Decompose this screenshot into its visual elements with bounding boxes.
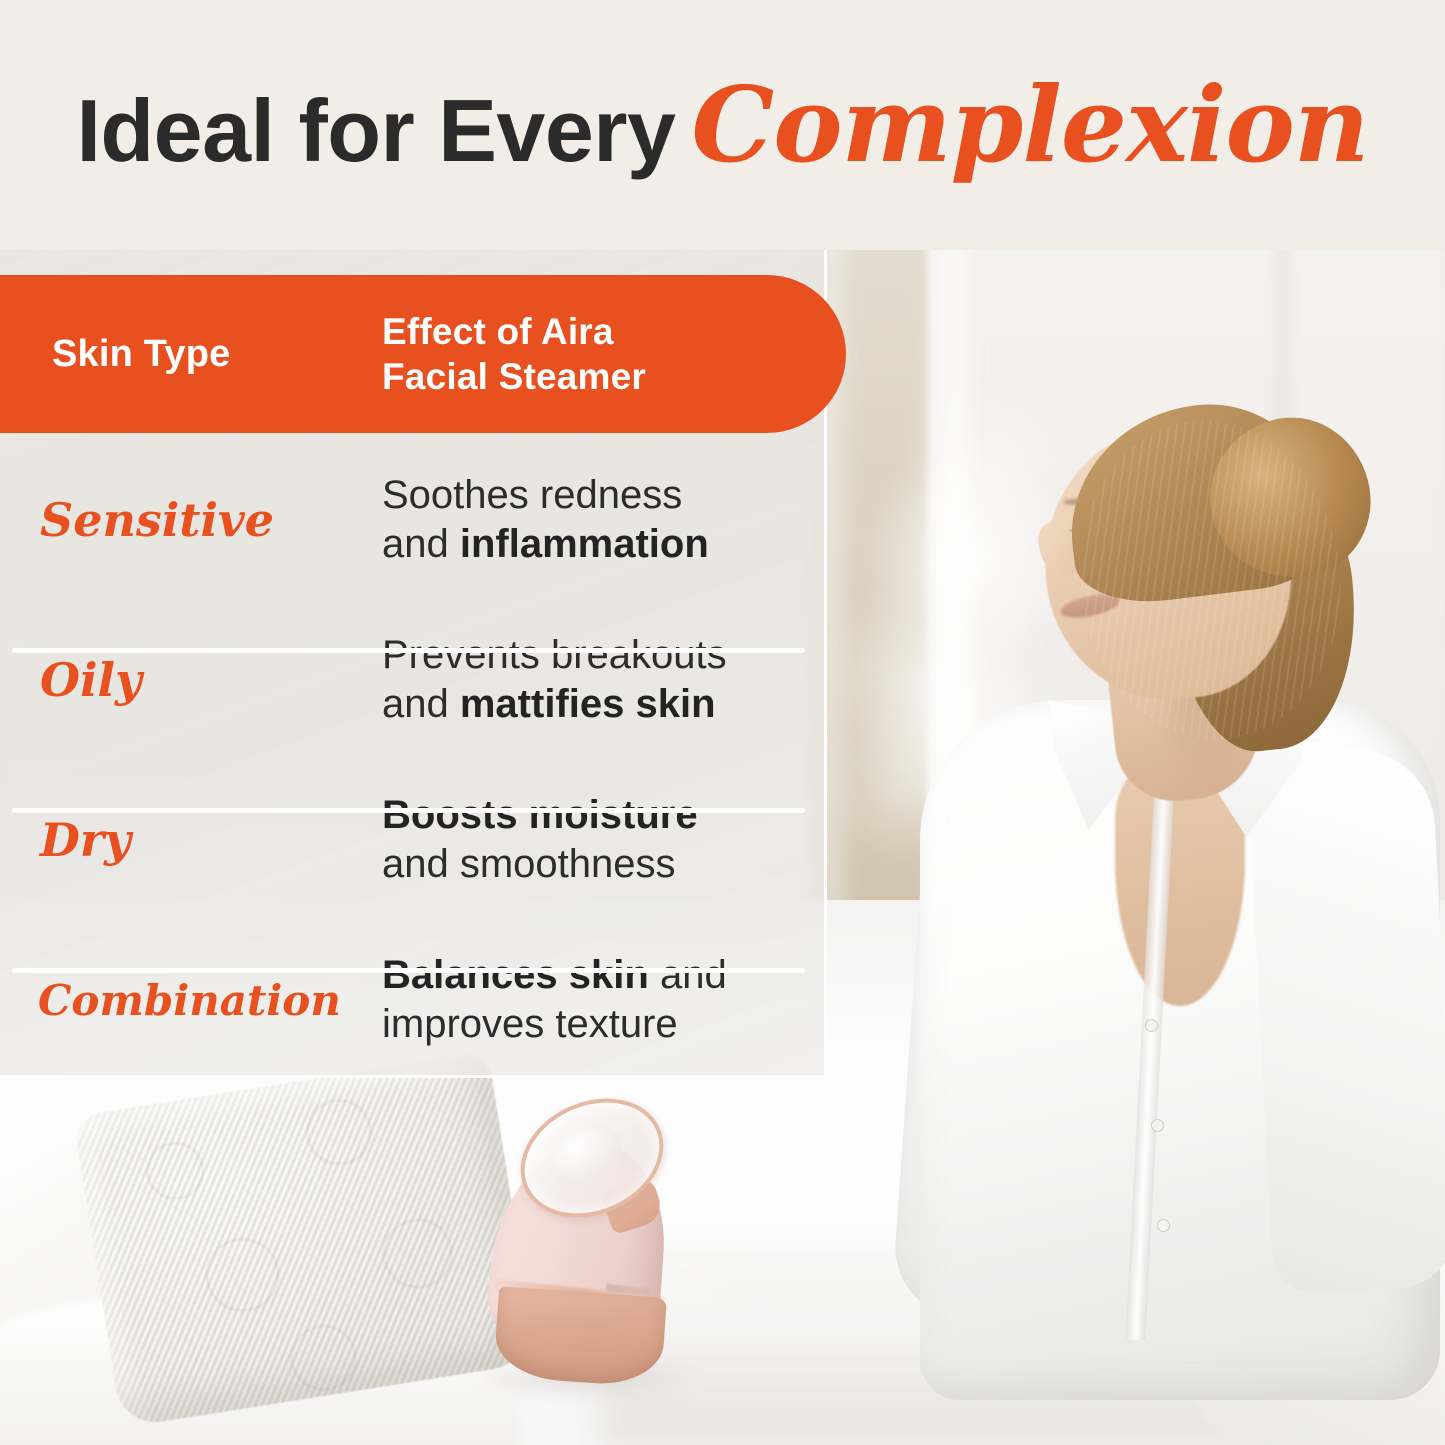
header-skin-type: Skin Type	[52, 333, 382, 376]
knit-texture	[73, 1051, 537, 1428]
title-band: Ideal for EveryComplexion	[0, 0, 1445, 250]
woman-figure	[900, 400, 1445, 1410]
shirt-sleeve-right	[1246, 746, 1445, 1295]
shirt-button	[1152, 1120, 1163, 1131]
infographic-canvas: Ideal for EveryComplexion Skin Type Effe…	[0, 0, 1445, 1445]
effect-line1-bold: Boosts moisture	[382, 793, 698, 837]
facial-steamer-product	[478, 1096, 678, 1381]
effect-text: Prevents breakouts and mattifies skin	[382, 631, 827, 729]
effect-line1: Soothes redness	[382, 473, 682, 517]
effect-line1-bold: Balances skin	[382, 953, 649, 997]
shirt-button	[1158, 1220, 1169, 1231]
skin-type-label: Sensitive	[0, 493, 382, 547]
effect-line1: Prevents breakouts	[382, 633, 727, 677]
skin-type-label: Combination	[0, 976, 382, 1025]
table-header: Skin Type Effect of Aira Facial Steamer	[0, 275, 846, 433]
effect-line2-bold: mattifies skin	[460, 682, 716, 726]
table-body: Sensitive Soothes redness and inflammati…	[0, 440, 827, 1080]
row-divider	[12, 648, 805, 653]
skin-type-table: Skin Type Effect of Aira Facial Steamer …	[0, 250, 827, 1078]
header-effect-line2: Facial Steamer	[382, 354, 646, 399]
table-row: Oily Prevents breakouts and mattifies sk…	[0, 600, 827, 760]
table-row: Combination Balances skin and improves t…	[0, 920, 827, 1080]
table-row: Dry Boosts moisture and smoothness	[0, 760, 827, 920]
title-dark-text: Ideal for Every	[76, 81, 675, 180]
row-divider	[12, 968, 805, 973]
effect-text: Boosts moisture and smoothness	[382, 791, 827, 889]
header-effect-line1: Effect of Aira	[382, 309, 646, 354]
effect-line2: improves texture	[382, 1002, 678, 1046]
page-title: Ideal for EveryComplexion	[76, 73, 1368, 177]
skin-type-label: Oily	[0, 653, 382, 707]
effect-line2-plain: and	[382, 682, 460, 726]
effect-line2-plain: and	[382, 522, 460, 566]
skin-type-label: Dry	[0, 813, 382, 867]
effect-line2: and smoothness	[382, 842, 676, 886]
effect-line1-plain: and	[660, 953, 727, 997]
header-effect: Effect of Aira Facial Steamer	[382, 309, 646, 399]
shirt-button	[1146, 1020, 1157, 1031]
effect-text: Balances skin and improves texture	[382, 951, 827, 1049]
effect-line2-bold: inflammation	[460, 522, 709, 566]
knit-cushion	[73, 1051, 537, 1428]
row-divider	[12, 808, 805, 813]
title-accent-text: Complexion	[691, 63, 1368, 186]
effect-text: Soothes redness and inflammation	[382, 471, 827, 569]
table-row: Sensitive Soothes redness and inflammati…	[0, 440, 827, 600]
